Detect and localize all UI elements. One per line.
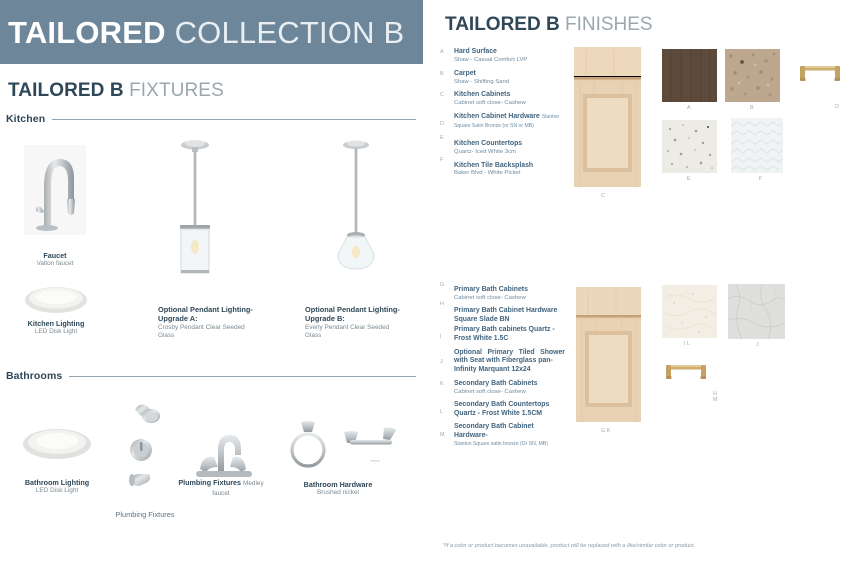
bathroom-hardware-sub: Brushed nickel (280, 489, 396, 497)
list-item: H Primary Bath Cabinet Hardware Square S… (440, 307, 565, 325)
finishes-heading-grey: FINISHES (565, 14, 653, 35)
swatch-label-f: F (759, 176, 762, 182)
bath-pull-hardware-swatch: H M (661, 360, 711, 393)
shower-tile-swatch: J (728, 284, 785, 344)
finishes-column: TAILORED B FINISHES A Hard Surface Shaw … (423, 0, 853, 569)
kitchen-lighting-name: Kitchen Lighting (10, 319, 102, 328)
spec-marker: C (440, 92, 444, 98)
kitchen-lighting-sub: LED Disk Light (10, 328, 102, 336)
fixture-caption-faucet: Faucet Valton faucet (14, 251, 96, 268)
spec-sub: Infinity Marquant 12x24 (454, 366, 565, 375)
pendant-b-sub: Everly Pendant Clear Seeded Glass (305, 324, 401, 341)
spec-title: Secondary Bath Cabinets (454, 380, 565, 389)
swatch-label-b: B (750, 105, 754, 111)
spec-title: Primary Bath Cabinet Hardware (454, 307, 557, 314)
pendant-cylinder-icon (170, 138, 220, 278)
shower-trim-icon (115, 398, 171, 498)
spec-marker: I (440, 334, 442, 340)
fixture-caption-plumbing-fixtures-shower: Plumbing Fixtures (100, 510, 190, 520)
spec-marker: H (440, 301, 444, 307)
list-item: K Secondary Bath Cabinets Cabinet soft c… (440, 380, 565, 397)
list-item: L Secondary Bath Countertops Quartz - Fr… (440, 401, 565, 419)
fixture-caption-pendant-b: Optional Pendant Lighting- Upgrade B: Ev… (305, 305, 401, 340)
plumbing-fixtures-faucet-name: Plumbing Fixtures (178, 478, 241, 487)
carpet-swatch: B (725, 49, 780, 107)
bathrooms-section-header: Bathrooms (6, 370, 416, 382)
list-item: I Primary Bath cabinets Quartz - Frost W… (440, 326, 565, 344)
kitchen-finishes-list: A Hard Surface Shaw - Casual Comfort LVP… (440, 48, 565, 183)
swatch-label-gk: G K (601, 428, 610, 434)
spec-title: Kitchen Countertops (454, 140, 565, 149)
towel-ring-bar-icon (286, 418, 396, 476)
faucet-name: Faucet (14, 251, 96, 260)
bathrooms-section-label: Bathrooms (6, 370, 69, 382)
plumbing-fixtures-shower-name: Plumbing Fixtures (100, 510, 190, 520)
page-title: TAILORED COLLECTION B (0, 17, 404, 48)
bathroom-lighting-sub: LED Disk Light (10, 487, 104, 495)
spec-sub: Cabinet soft close- Cashew (454, 100, 565, 108)
bath-quartz-swatch: I L (662, 285, 717, 343)
pendant-b-name: Optional Pendant Lighting- Upgrade B: (305, 305, 401, 324)
banner-title-bold: TAILORED (8, 15, 166, 50)
swatch-label-e: E (687, 176, 691, 182)
hard-surface-lvp-swatch: A (662, 49, 717, 107)
bath-finishes-list: G Primary Bath Cabinets Cabinet soft clo… (440, 286, 565, 453)
fixture-caption-bathroom-hardware: Bathroom Hardware Brushed nickel (280, 480, 396, 497)
spec-marker: K (440, 381, 444, 387)
spec-marker: G (440, 282, 444, 288)
pendant-schoolhouse-icon (330, 138, 382, 273)
spec-marker: A (440, 49, 444, 55)
kitchen-section-label: Kitchen (6, 113, 52, 125)
spec-marker: E (440, 135, 444, 141)
bathrooms-section-rule (69, 376, 416, 377)
spec-sub: Cabinet soft close- Cashew (454, 295, 565, 303)
quartz-countertop-swatch: E (662, 120, 717, 178)
spec-title: Carpet (454, 70, 565, 79)
spec-title: Primary Bath Cabinets (454, 286, 565, 295)
bathroom-hardware-name: Bathroom Hardware (280, 480, 396, 489)
cabinet-pull-hardware-swatch: D (795, 60, 845, 95)
tile-backsplash-swatch: F (731, 118, 783, 178)
list-item: D Kitchen Cabinet Hardware Stanton Squar… (440, 113, 565, 131)
spec-marker: M (440, 432, 445, 438)
kitchen-section-rule (52, 119, 416, 120)
spec-title: Hard Surface (454, 48, 565, 57)
swatch-label-il: I L (684, 341, 690, 347)
swatch-label-c: C (601, 193, 605, 199)
spec-title: Optional Primary Tiled Shower with Seat … (454, 349, 565, 367)
spec-sub: Quartz - Frost White 1.5CM (454, 410, 565, 419)
spec-sub: Quartz- Iced White 3cm (454, 149, 565, 157)
finishes-heading: TAILORED B FINISHES (445, 14, 653, 36)
spec-marker: D (440, 121, 444, 127)
finishes-heading-dark: TAILORED B (445, 14, 560, 35)
swatch-label-a: A (687, 105, 691, 111)
fixtures-heading-grey: FIXTURES (129, 80, 224, 101)
pendant-a-sub: Crosby Pendant Clear Seeded Glass (158, 324, 254, 341)
spec-sub: Stanton Square satin bronze (Or SN, MB) (454, 441, 565, 448)
spec-sub: Baker Blvd - White Picket (454, 170, 565, 178)
spec-marker: F (440, 157, 443, 163)
kitchen-section-header: Kitchen (6, 113, 416, 125)
fixture-caption-kitchen-lighting: Kitchen Lighting LED Disk Light (10, 319, 102, 336)
list-item: C Kitchen Cabinets Cabinet soft close- C… (440, 91, 565, 108)
spec-marker: J (440, 359, 443, 365)
disclaimer-footnote: *If a color or product becomes unavailab… (443, 543, 695, 549)
list-item: G Primary Bath Cabinets Cabinet soft clo… (440, 286, 565, 303)
disk-light-icon (24, 283, 88, 317)
spec-marker: B (440, 71, 444, 77)
fixture-caption-bathroom-lighting: Bathroom Lighting LED Disk Light (10, 478, 104, 495)
kitchen-cabinet-door-swatch: C (574, 47, 641, 192)
spec-sub: Shaw - Shifting Sand (454, 79, 565, 87)
spec-sub: Cabinet soft close- Cashew (454, 389, 565, 397)
spec-sub: Shaw - Casual Comfort LVP (454, 57, 565, 65)
banner-title-light: COLLECTION B (175, 15, 405, 50)
kitchen-faucet-icon (24, 145, 86, 235)
lav-faucet-icon (188, 425, 258, 485)
swatch-label-d: D (835, 104, 839, 110)
bath-cabinet-door-swatch: G K (576, 287, 641, 427)
list-item: J Optional Primary Tiled Shower with Sea… (440, 349, 565, 376)
pendant-a-name: Optional Pendant Lighting- Upgrade A: (158, 305, 254, 324)
list-item: A Hard Surface Shaw - Casual Comfort LVP (440, 48, 565, 65)
spec-title: Kitchen Tile Backsplash (454, 162, 565, 171)
spec-marker: L (440, 409, 443, 415)
list-item: B Carpet Shaw - Shifting Sand (440, 70, 565, 87)
page-banner: TAILORED COLLECTION B (0, 0, 423, 64)
swatch-label-hm: H M (713, 391, 717, 403)
spec-title: Secondary Bath Countertops (454, 401, 565, 410)
swatch-label-j: J (756, 342, 759, 348)
fixture-caption-pendant-a: Optional Pendant Lighting- Upgrade A: Cr… (158, 305, 254, 340)
spec-title: Secondary Bath Cabinet Hardware- (454, 423, 565, 441)
fixtures-column: TAILORED COLLECTION B TAILORED B FIXTURE… (0, 0, 423, 569)
spec-title: Kitchen Cabinet Hardware (454, 113, 540, 120)
fixtures-heading-dark: TAILORED B (8, 80, 124, 101)
spec-title: Kitchen Cabinets (454, 91, 565, 100)
spec-sub: Square Slade BN (454, 316, 510, 323)
list-item: M Secondary Bath Cabinet Hardware- Stant… (440, 423, 565, 448)
disk-light-icon (22, 424, 92, 464)
list-item: E Kitchen Countertops Quartz- Iced White… (440, 140, 565, 157)
list-item: F Kitchen Tile Backsplash Baker Blvd - W… (440, 162, 565, 179)
faucet-sub: Valton faucet (14, 260, 96, 268)
fixtures-heading: TAILORED B FIXTURES (8, 80, 224, 102)
spec-sheet-page: TAILORED COLLECTION B TAILORED B FIXTURE… (0, 0, 853, 569)
fixture-caption-plumbing-fixtures-faucet: Plumbing Fixtures Medley faucet (175, 478, 267, 499)
spec-title: Primary Bath cabinets Quartz (454, 326, 551, 333)
bathroom-lighting-name: Bathroom Lighting (10, 478, 104, 487)
